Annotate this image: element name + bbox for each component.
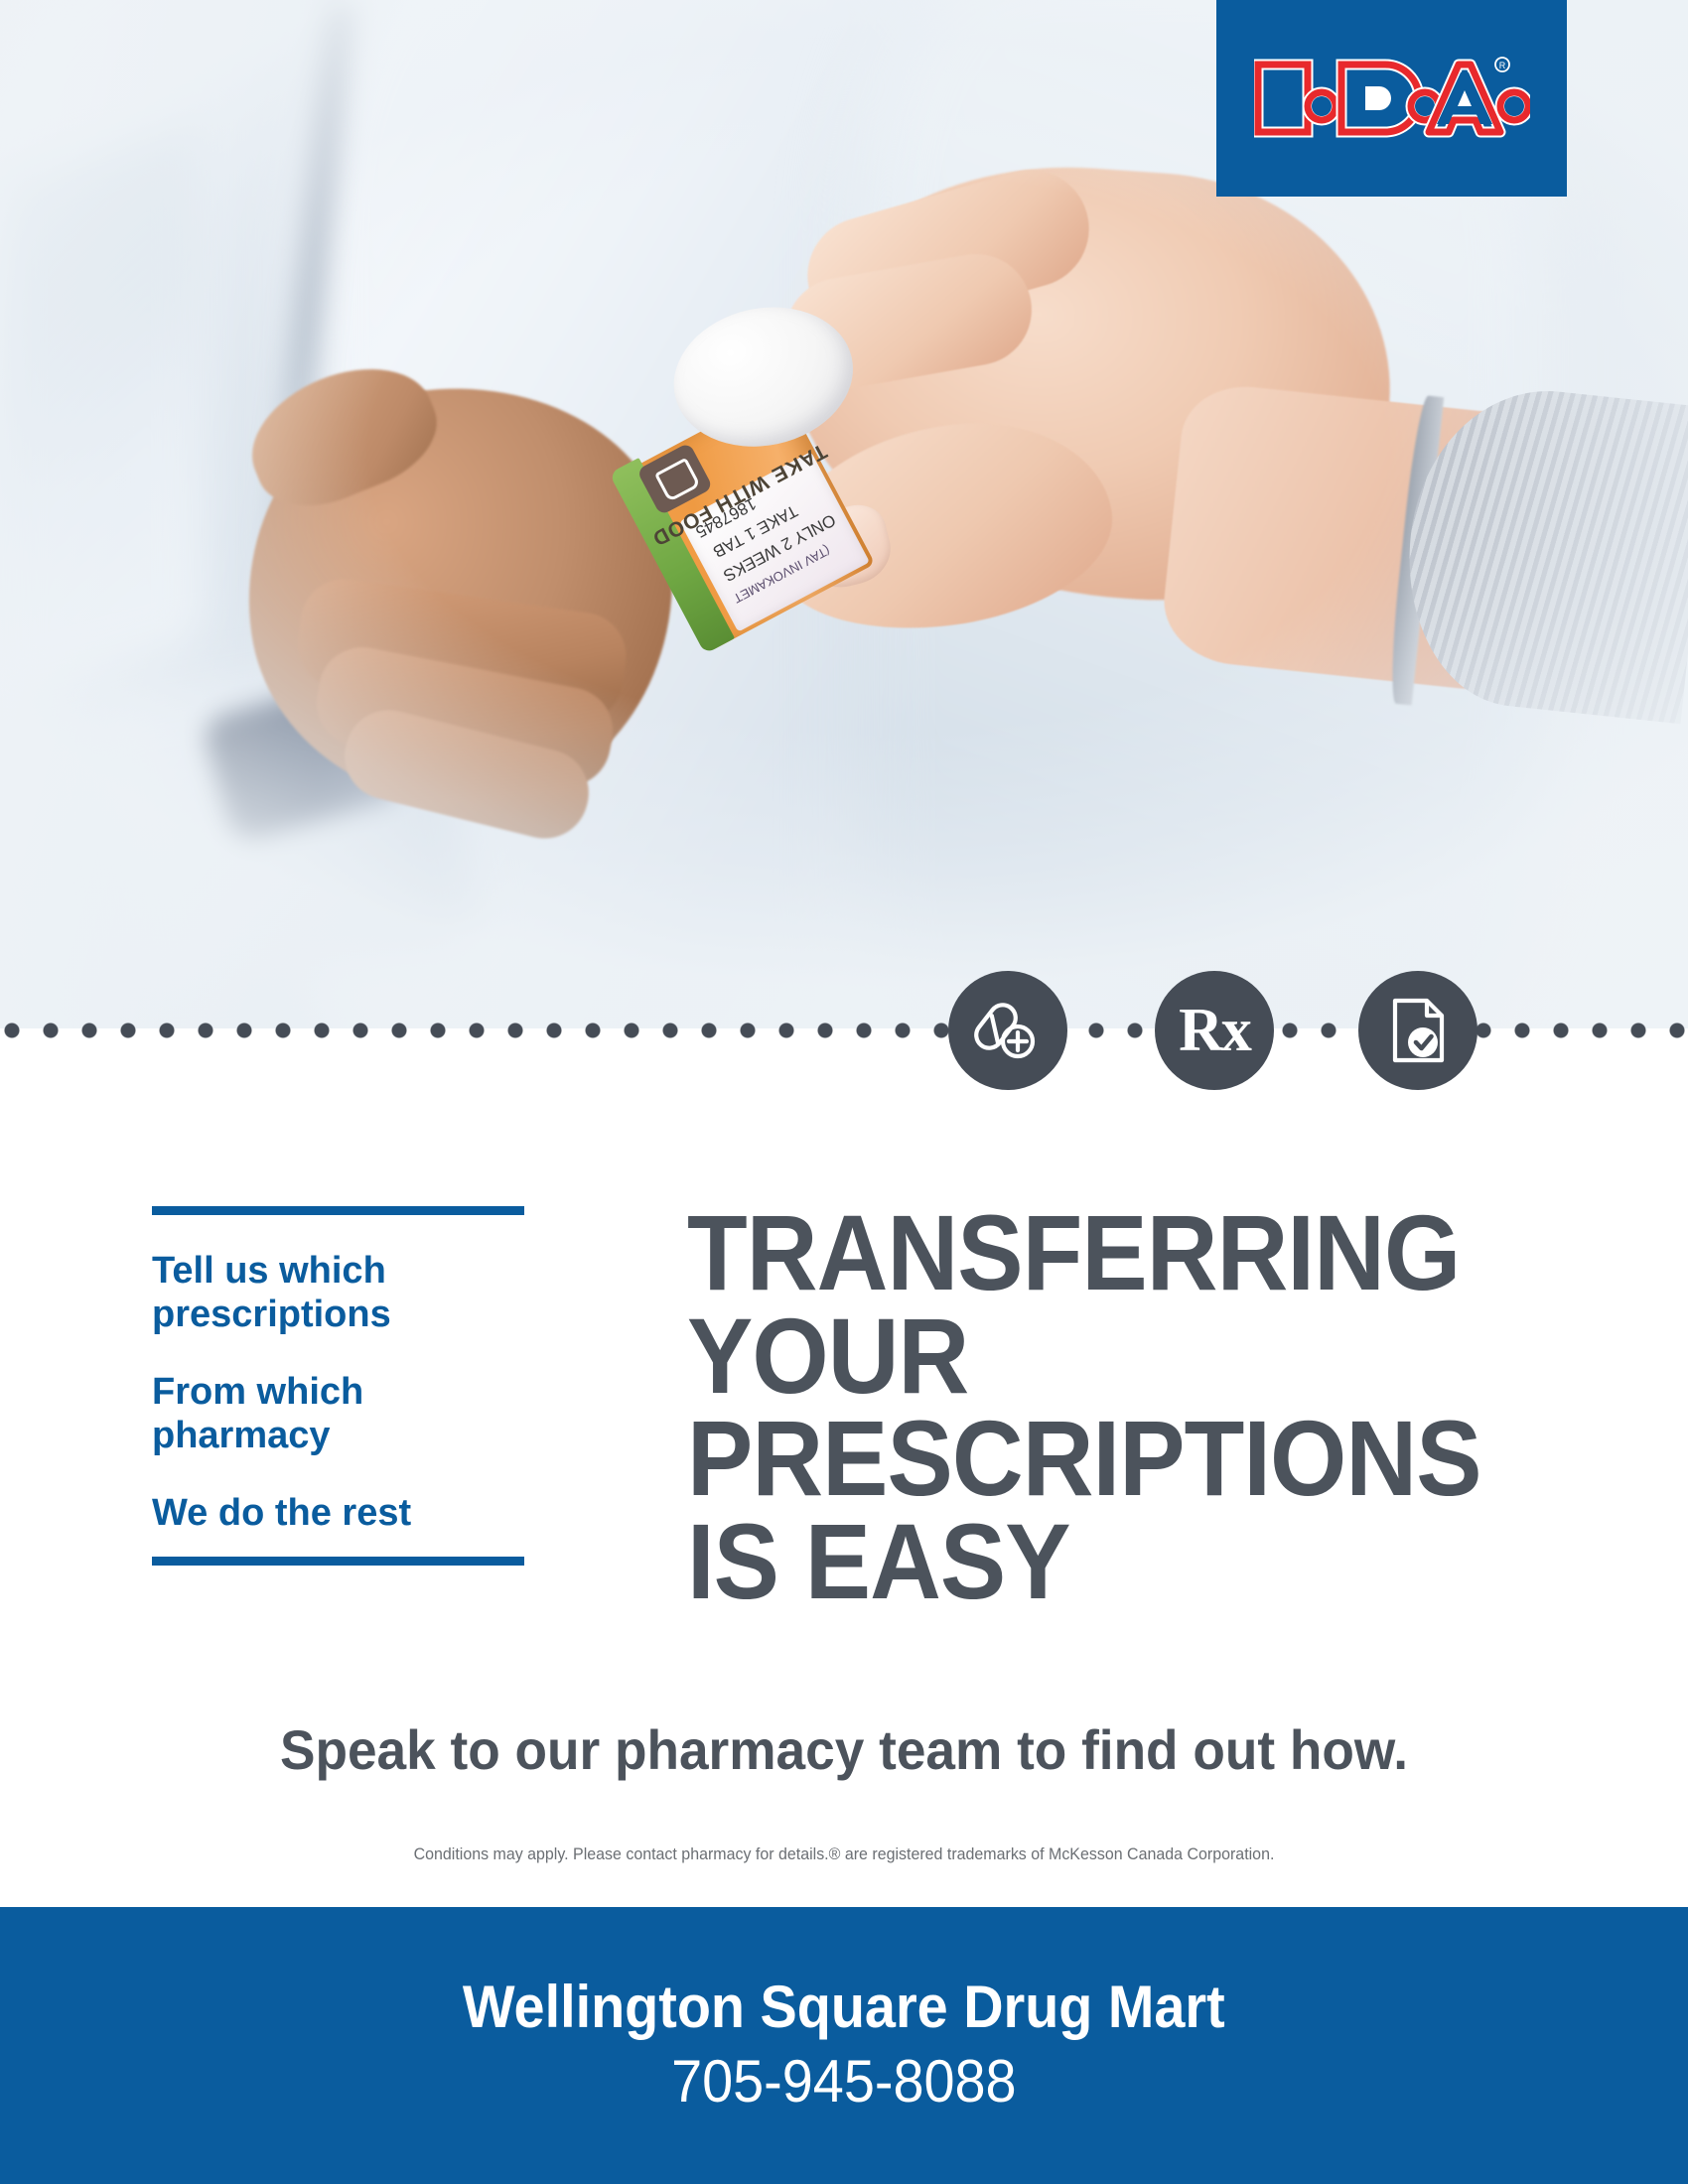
headline-line-4: IS EASY [687,1510,1473,1613]
legal-fineprint: Conditions may apply. Please contact pha… [51,1844,1637,1864]
steps-rule-bottom [152,1557,524,1566]
store-phone[interactable]: 705-945-8088 [671,2046,1017,2117]
lab-coat-lapel [0,120,199,693]
step-item-1: Tell us which prescriptions [152,1249,524,1336]
step-item-2: From which pharmacy [152,1370,524,1457]
page-title: TRANSFERRING YOUR PRESCRIPTIONS IS EASY [687,1201,1473,1613]
svg-text:R: R [1498,61,1505,70]
rx-icon-label: Rx [1179,1000,1250,1061]
tagline: Speak to our pharmacy team to find out h… [43,1717,1646,1782]
store-name: Wellington Square Drug Mart [463,1974,1225,2040]
store-footer: Wellington Square Drug Mart 705-945-8088 [0,1907,1688,2184]
document-check-icon [1358,971,1477,1090]
steps-rule-top [152,1206,524,1215]
steps-list: Tell us which prescriptions From which p… [152,1206,524,1566]
ida-logo: R [1216,0,1567,197]
rx-icon: Rx [1155,971,1274,1090]
pills-plus-icon [948,971,1067,1090]
headline-line-3: PRESCRIPTIONS [687,1407,1473,1510]
lower-content: Tell us which prescriptions From which p… [0,1042,1688,1906]
poster-root: TAKE WITH FOOD 1867845 TAKE 1 TAB ONLY 2… [0,0,1688,2184]
step-item-3: We do the rest [152,1491,524,1535]
headline-line-1: TRANSFERRING [687,1201,1473,1304]
headline-line-2: YOUR [687,1304,1473,1408]
pills-plus-glyph [972,995,1044,1066]
ida-logo-mark: R [1254,51,1530,146]
document-check-glyph [1385,995,1451,1066]
